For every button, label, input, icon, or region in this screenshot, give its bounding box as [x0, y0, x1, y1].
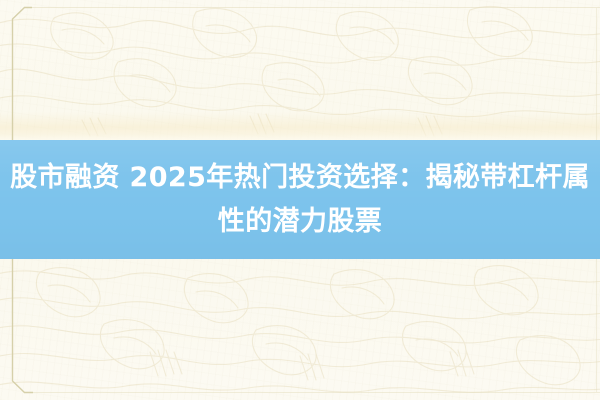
warm-tone-band	[0, 112, 600, 140]
title-line-2: 性的潜力股票	[218, 203, 382, 241]
banner-title: 股市融资 2025年热门投资选择：揭秘带杠杆属 性的潜力股票	[0, 140, 600, 259]
title-line-1: 股市融资 2025年热门投资选择：揭秘带杠杆属	[10, 159, 590, 197]
banner-image: 股市融资 2025年热门投资选择：揭秘带杠杆属 性的潜力股票	[0, 0, 600, 400]
